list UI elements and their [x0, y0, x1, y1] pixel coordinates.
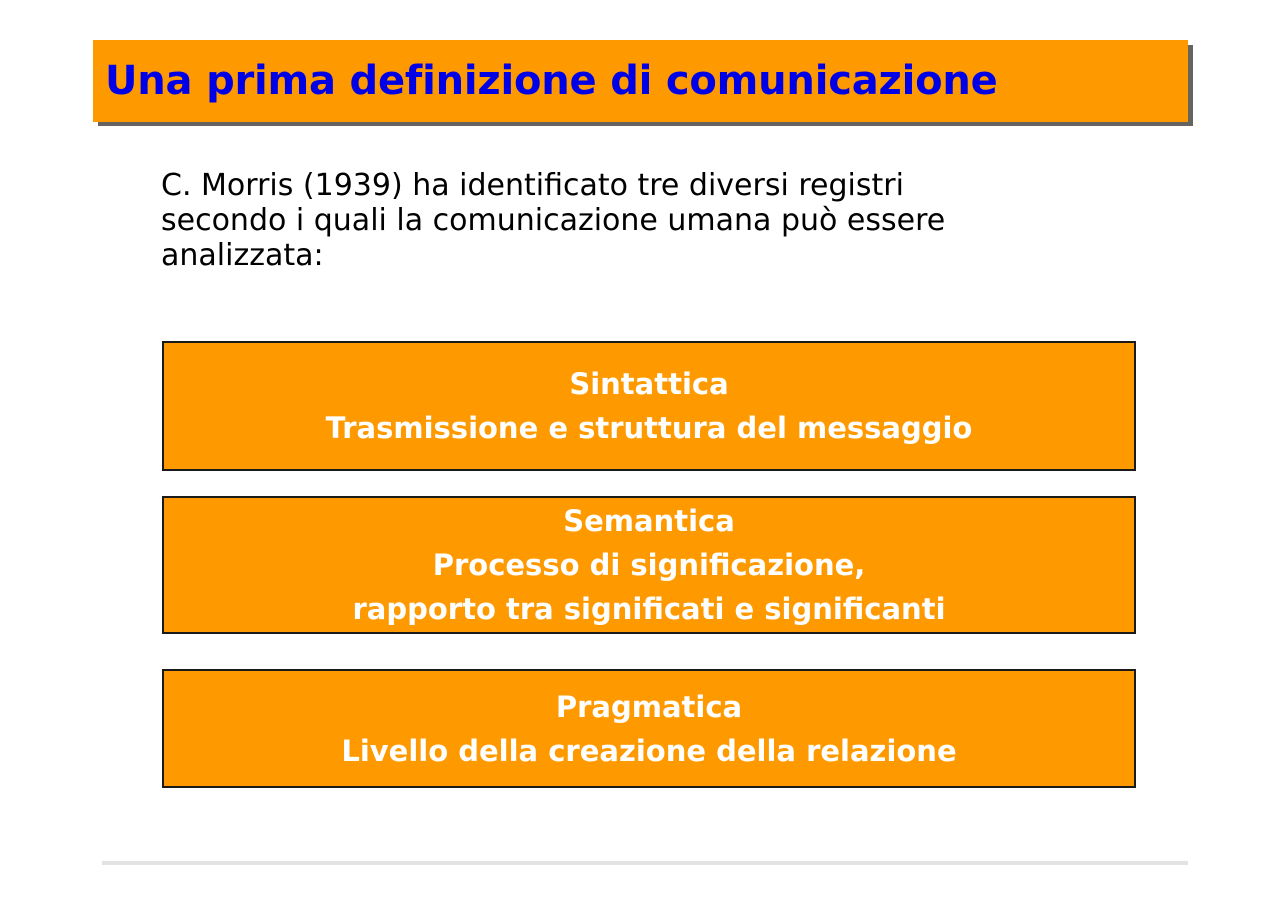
register-box-description-line: rapporto tra significati e significanti: [352, 587, 945, 631]
title-bar: Una prima definizione di comunicazione: [93, 40, 1188, 122]
register-box-sintattica: Sintattica Trasmissione e struttura del …: [162, 341, 1136, 471]
register-box-heading: Semantica: [563, 499, 735, 543]
slide-canvas: Una prima definizione di comunicazione C…: [0, 0, 1280, 905]
register-box-description-line: Processo di significazione,: [433, 543, 866, 587]
register-box-semantica: Semantica Processo di significazione, ra…: [162, 496, 1136, 634]
intro-paragraph-line: secondo i quali la comunicazione umana p…: [161, 203, 1101, 238]
page-title: Una prima definizione di comunicazione: [93, 61, 998, 101]
intro-paragraph: C. Morris (1939) ha identificato tre div…: [161, 168, 1101, 273]
intro-paragraph-line: analizzata:: [161, 238, 1101, 273]
footer-divider: [102, 861, 1188, 865]
register-box-heading: Sintattica: [569, 362, 728, 406]
register-box-heading: Pragmatica: [556, 685, 742, 729]
intro-paragraph-line: C. Morris (1939) ha identificato tre div…: [161, 168, 1101, 203]
register-box-pragmatica: Pragmatica Livello della creazione della…: [162, 669, 1136, 788]
register-box-description-line: Livello della creazione della relazione: [341, 729, 956, 773]
register-box-description-line: Trasmissione e struttura del messaggio: [326, 406, 973, 450]
